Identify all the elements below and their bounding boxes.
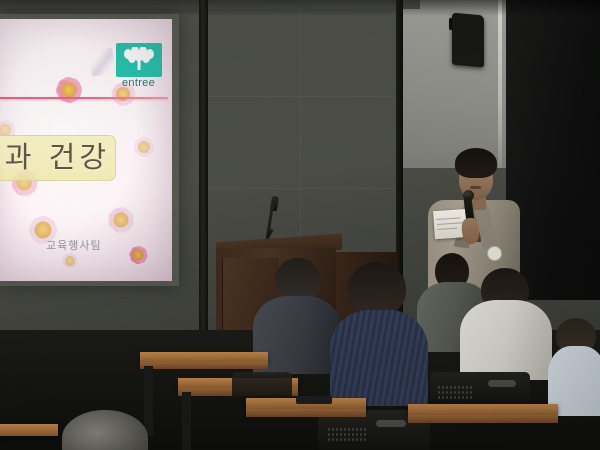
chair-perforation xyxy=(344,438,346,441)
chair-perforation xyxy=(470,391,472,394)
chair-perforation xyxy=(438,386,440,389)
chair-perforation xyxy=(446,396,448,399)
name-badge xyxy=(487,246,502,261)
lecture-hall-photo: entree 과 건강 교육행사팀 xyxy=(0,0,600,450)
cosmos-flower-icon xyxy=(116,233,160,277)
chair-perforation xyxy=(446,391,448,394)
entree-logo: entree xyxy=(111,43,166,89)
chair-perforation xyxy=(332,433,334,436)
chair-perforation xyxy=(360,433,362,436)
chair-perforation xyxy=(348,428,350,431)
chair-perforation xyxy=(454,386,456,389)
chair-perforation xyxy=(454,391,456,394)
chair-perforation xyxy=(344,428,346,431)
tree-crown-icon xyxy=(116,43,162,77)
chair-perforation xyxy=(470,386,472,389)
chair-perforation xyxy=(332,438,334,441)
desk-item-notebook[interactable] xyxy=(296,396,332,404)
chair-perforation xyxy=(352,428,354,431)
chair-perforation xyxy=(364,433,366,436)
flower-center xyxy=(114,213,129,228)
chair-perforation xyxy=(462,396,464,399)
chair-perforation xyxy=(438,396,440,399)
dark-wall-section xyxy=(506,0,600,300)
chair-perforation xyxy=(356,428,358,431)
chair-perforation xyxy=(328,433,330,436)
chair-handle-slot xyxy=(376,420,406,427)
desk-edge xyxy=(408,415,558,423)
wall-seam xyxy=(208,96,400,97)
wall-seam xyxy=(208,188,400,189)
flower-center xyxy=(35,222,52,239)
chair-perforation xyxy=(442,386,444,389)
slide-title: 과 건강 xyxy=(0,139,110,175)
chair-handle-slot xyxy=(488,380,516,387)
chair-perforation xyxy=(450,386,452,389)
wall-speaker-icon xyxy=(452,13,484,68)
chair-perforation xyxy=(364,438,366,441)
desk-edge xyxy=(246,409,366,417)
chair-perforation xyxy=(462,391,464,394)
attendee-body xyxy=(330,310,428,406)
chair-perforation xyxy=(360,428,362,431)
cosmos-flower-icon xyxy=(120,123,168,171)
slide-subtitle: 교육행사팀 xyxy=(46,237,102,253)
chair-perforation xyxy=(328,438,330,441)
chair-perforation xyxy=(336,438,338,441)
chair-perforation xyxy=(442,396,444,399)
chair-perforation xyxy=(458,386,460,389)
chair-perforations xyxy=(328,428,366,441)
chair-perforation xyxy=(360,438,362,441)
chair-perforation xyxy=(336,428,338,431)
chair-perforation xyxy=(466,386,468,389)
chair-perforation xyxy=(450,396,452,399)
chair-perforation xyxy=(462,386,464,389)
chair-perforation xyxy=(450,391,452,394)
slide-divider-rule xyxy=(0,97,168,99)
chair-perforation xyxy=(458,391,460,394)
chair-perforation xyxy=(344,433,346,436)
logo-wordmark: entree xyxy=(111,77,166,89)
attendee-body xyxy=(460,300,552,380)
wall-light-edge xyxy=(498,0,502,168)
chair-perforation xyxy=(348,438,350,441)
chair-perforation xyxy=(454,396,456,399)
desk-leg xyxy=(182,392,191,450)
chair-perforation xyxy=(458,396,460,399)
chair-perforation xyxy=(336,433,338,436)
flower-center xyxy=(138,141,150,153)
flower-center xyxy=(133,250,144,261)
chair-perforations xyxy=(438,386,472,399)
chair-perforation xyxy=(328,428,330,431)
chair-perforation xyxy=(340,438,342,441)
chair-perforation xyxy=(340,433,342,436)
chair-perforation xyxy=(466,396,468,399)
chair-perforation xyxy=(470,396,472,399)
wall-seam xyxy=(300,0,301,240)
chair-perforation xyxy=(442,391,444,394)
chair-perforation xyxy=(352,433,354,436)
presenter-hair xyxy=(455,148,497,178)
chair-perforation xyxy=(364,428,366,431)
wall-pillar xyxy=(199,0,208,352)
flower-center xyxy=(62,83,77,98)
attendee-head xyxy=(348,262,406,316)
tiered-wooden-desk xyxy=(0,424,58,436)
desk-leg xyxy=(144,366,153,436)
chair-perforation xyxy=(332,428,334,431)
flower-center xyxy=(65,256,75,266)
chair-perforation xyxy=(340,428,342,431)
chair-perforation xyxy=(446,386,448,389)
presenter-mouth xyxy=(470,186,481,189)
desk-edge xyxy=(140,362,268,369)
chair-perforation xyxy=(466,391,468,394)
projection-screen[interactable]: entree 과 건강 교육행사팀 xyxy=(0,19,172,281)
chair-perforation xyxy=(352,438,354,441)
chair-perforation xyxy=(356,433,358,436)
chair-perforation xyxy=(348,433,350,436)
chair-perforation xyxy=(356,438,358,441)
chair-perforation xyxy=(438,391,440,394)
